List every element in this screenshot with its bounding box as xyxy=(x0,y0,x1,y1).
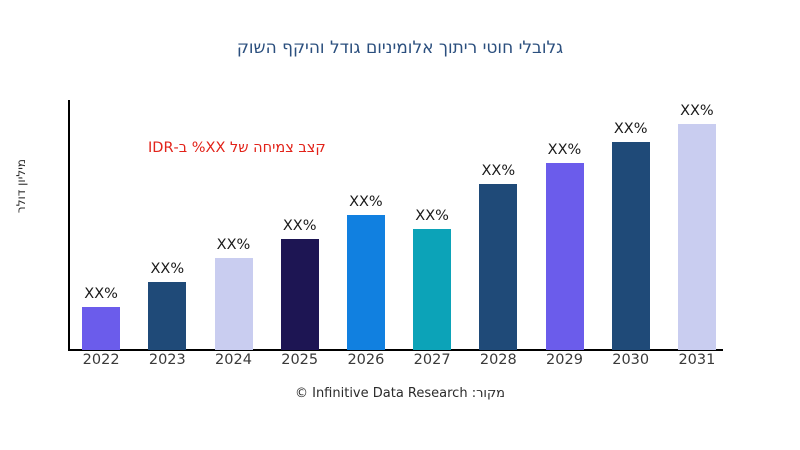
bar-value-label-2022: XX% xyxy=(84,286,118,302)
bar-value-label-2029: XX% xyxy=(548,142,582,158)
x-tick-label-2025: 2025 xyxy=(281,352,318,368)
bar-2024[interactable] xyxy=(215,258,253,350)
bar-group: XX%2022 xyxy=(82,100,120,350)
x-tick-label-2029: 2029 xyxy=(546,352,583,368)
x-tick-label-2026: 2026 xyxy=(347,352,384,368)
bar-group: XX%2029 xyxy=(546,100,584,350)
chart-source-caption: מקור: Infinitive Data Research © xyxy=(0,386,800,401)
bar-2031[interactable] xyxy=(678,124,716,350)
plot-area: XX%2022XX%2023XX%2024XX%2025XX%2026XX%20… xyxy=(68,100,730,350)
x-tick-label-2022: 2022 xyxy=(83,352,120,368)
bar-group: XX%2026 xyxy=(347,100,385,350)
bar-value-label-2025: XX% xyxy=(283,218,317,234)
x-tick-label-2028: 2028 xyxy=(480,352,517,368)
bar-value-label-2030: XX% xyxy=(614,121,648,137)
bar-2029[interactable] xyxy=(546,163,584,350)
y-axis-label: מיליון דולר xyxy=(14,126,36,246)
bar-2025[interactable] xyxy=(281,239,319,350)
bar-group: XX%2027 xyxy=(413,100,451,350)
x-tick-label-2024: 2024 xyxy=(215,352,252,368)
chart-title: גלובלי חוטי ריתוך אלומיניום גודל והיקף ה… xyxy=(0,38,800,58)
x-tick-label-2023: 2023 xyxy=(149,352,186,368)
bar-group: XX%2028 xyxy=(479,100,517,350)
bar-2026[interactable] xyxy=(347,215,385,350)
bar-value-label-2024: XX% xyxy=(217,237,251,253)
bar-group: XX%2025 xyxy=(281,100,319,350)
bar-2027[interactable] xyxy=(413,229,451,350)
bar-value-label-2026: XX% xyxy=(349,194,383,210)
bar-2030[interactable] xyxy=(612,142,650,350)
bar-group: XX%2030 xyxy=(612,100,650,350)
bar-group: XX%2023 xyxy=(148,100,186,350)
x-tick-label-2030: 2030 xyxy=(612,352,649,368)
bar-group: XX%2031 xyxy=(678,100,716,350)
bar-chart-figure: גלובלי חוטי ריתוך אלומיניום גודל והיקף ה… xyxy=(0,0,800,450)
bar-group: XX%2024 xyxy=(215,100,253,350)
bar-2023[interactable] xyxy=(148,282,186,350)
bar-value-label-2031: XX% xyxy=(680,103,714,119)
bar-value-label-2023: XX% xyxy=(150,261,184,277)
bar-value-label-2027: XX% xyxy=(415,208,449,224)
bar-value-label-2028: XX% xyxy=(481,163,515,179)
x-tick-label-2031: 2031 xyxy=(678,352,715,368)
bar-2028[interactable] xyxy=(479,184,517,350)
x-tick-label-2027: 2027 xyxy=(414,352,451,368)
bar-2022[interactable] xyxy=(82,307,120,350)
